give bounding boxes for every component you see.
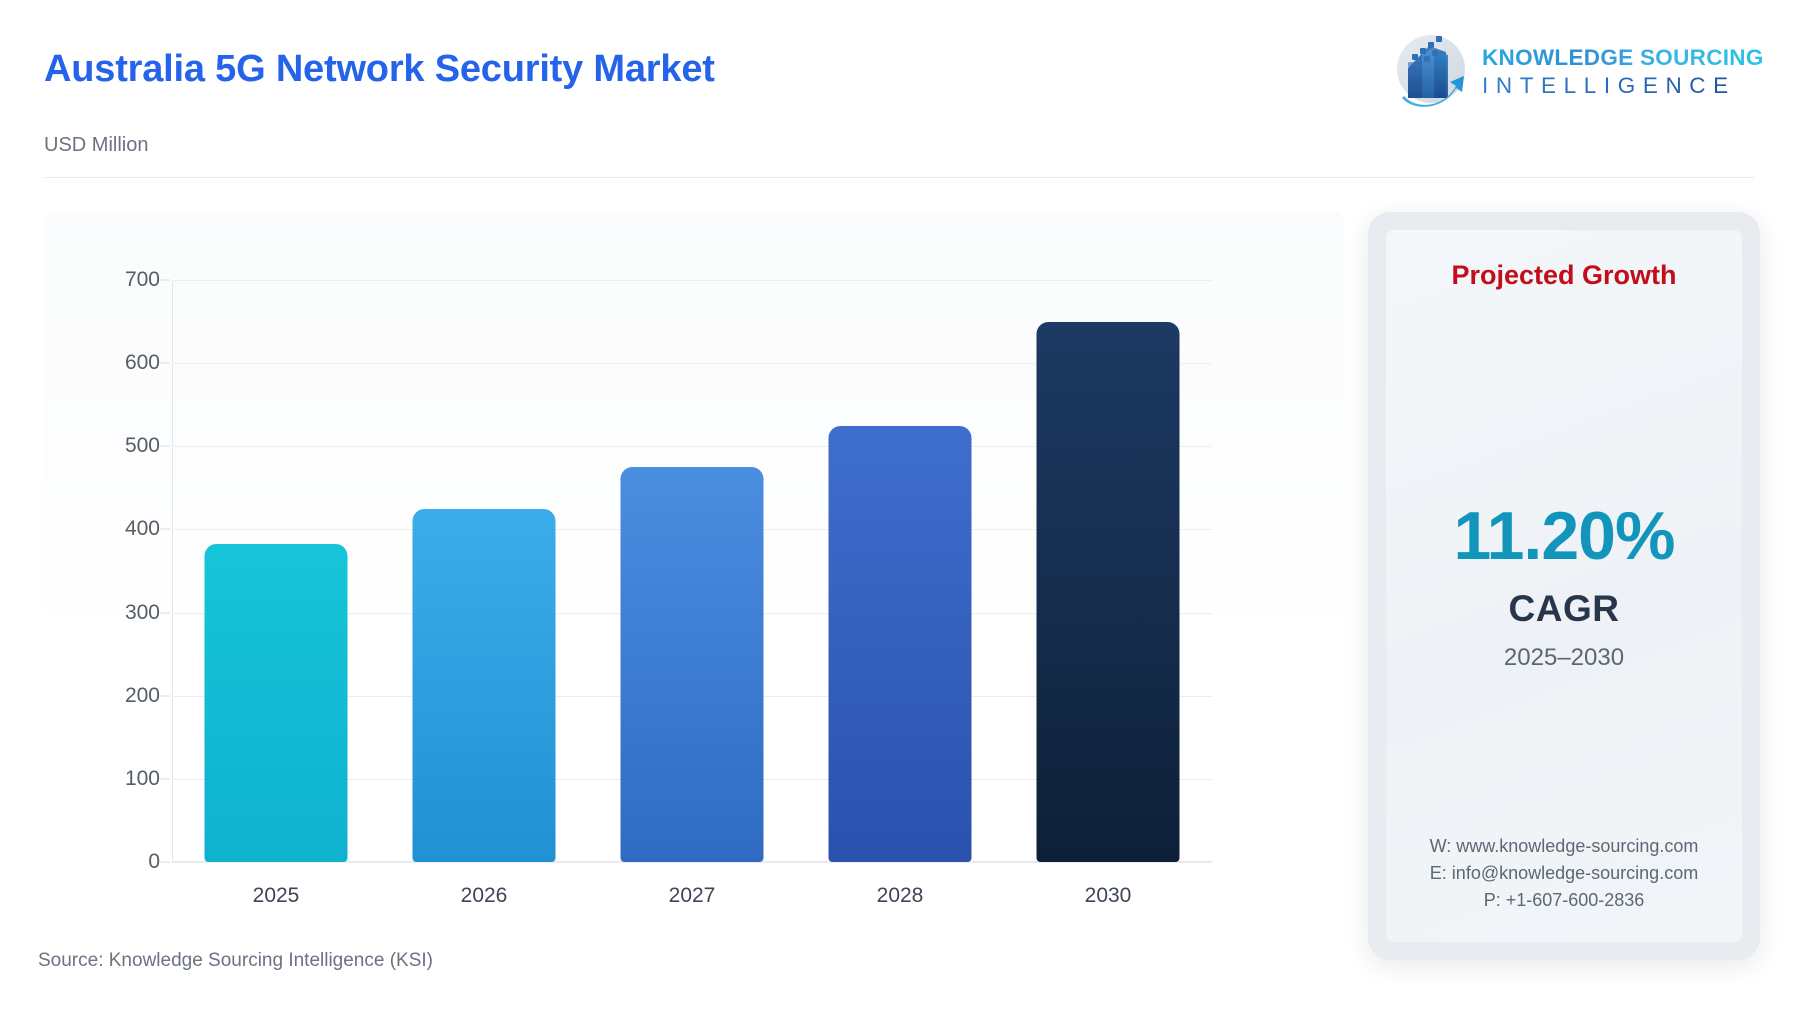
chart-bars (172, 280, 1212, 862)
bar-slot (796, 280, 1004, 862)
cagr-period: 2025–2030 (1386, 646, 1742, 670)
brand-logo-text: KNOWLEDGE SOURCING INTELLIGENCE (1482, 46, 1762, 101)
y-tick-label: 600 (70, 351, 160, 375)
brand-logo: KNOWLEDGE SOURCING INTELLIGENCE (1386, 22, 1758, 114)
contact-email: E: info@knowledge-sourcing.com (1386, 860, 1742, 887)
y-tick-dash (160, 778, 170, 779)
bar-slot (588, 280, 796, 862)
y-tick-dash (160, 280, 170, 281)
page-subtitle-units: USD Million (44, 134, 148, 157)
x-tick-label: 2028 (800, 884, 1000, 908)
bar-2026[interactable] (413, 509, 556, 862)
y-tick-label: 0 (70, 850, 160, 874)
y-tick-label: 200 (70, 684, 160, 708)
y-tick-label: 700 (70, 268, 160, 292)
page-title: Australia 5G Network Security Market (44, 48, 715, 91)
x-tick-label: 2027 (592, 884, 792, 908)
cagr-label: CAGR (1386, 590, 1742, 627)
brand-name-line2: INTELLIGENCE (1482, 71, 1762, 101)
y-tick-label: 500 (70, 434, 160, 458)
x-tick-label: 2026 (384, 884, 584, 908)
header-divider (44, 177, 1754, 178)
y-tick-dash (160, 363, 170, 364)
projected-growth-panel-inner: Projected Growth 11.20% CAGR 2025–2030 W… (1386, 230, 1742, 942)
bar-slot (380, 280, 588, 862)
bar-slot (1004, 280, 1212, 862)
knowledge-sourcing-emblem-icon (1386, 24, 1472, 110)
bar-2028[interactable] (829, 426, 972, 863)
y-tick-dash (160, 446, 170, 447)
y-tick-label: 400 (70, 517, 160, 541)
y-tick-dash (160, 695, 170, 696)
bar-slot (172, 280, 380, 862)
chart-card: 0100200300400500600700 20252026202720282… (44, 212, 1344, 928)
contact-phone: P: +1-607-600-2836 (1386, 887, 1742, 914)
brand-name-line1: KNOWLEDGE SOURCING (1482, 46, 1762, 71)
chart-plot-area: 0100200300400500600700 20252026202720282… (44, 212, 1344, 928)
panel-title: Projected Growth (1386, 260, 1742, 291)
y-tick-dash (160, 862, 170, 863)
bar-2025[interactable] (205, 544, 348, 862)
contact-website: W: www.knowledge-sourcing.com (1386, 833, 1742, 860)
x-tick-label: 2030 (1008, 884, 1208, 908)
page-header: Australia 5G Network Security Market USD… (0, 0, 1800, 180)
projected-growth-panel: Projected Growth 11.20% CAGR 2025–2030 W… (1368, 212, 1760, 960)
gridline (172, 862, 1212, 863)
chart-page: Australia 5G Network Security Market USD… (0, 0, 1800, 1012)
y-tick-dash (160, 529, 170, 530)
cagr-value: 11.20% (1386, 502, 1742, 570)
y-tick-label: 300 (70, 601, 160, 625)
bar-chart: 0100200300400500600700 20252026202720282… (172, 280, 1212, 862)
x-tick-label: 2025 (176, 884, 376, 908)
y-tick-dash (160, 612, 170, 613)
contact-block: W: www.knowledge-sourcing.com E: info@kn… (1386, 833, 1742, 914)
source-note: Source: Knowledge Sourcing Intelligence … (38, 950, 433, 972)
bar-2030[interactable] (1037, 322, 1180, 862)
bar-2027[interactable] (621, 467, 764, 862)
y-tick-label: 100 (70, 767, 160, 791)
